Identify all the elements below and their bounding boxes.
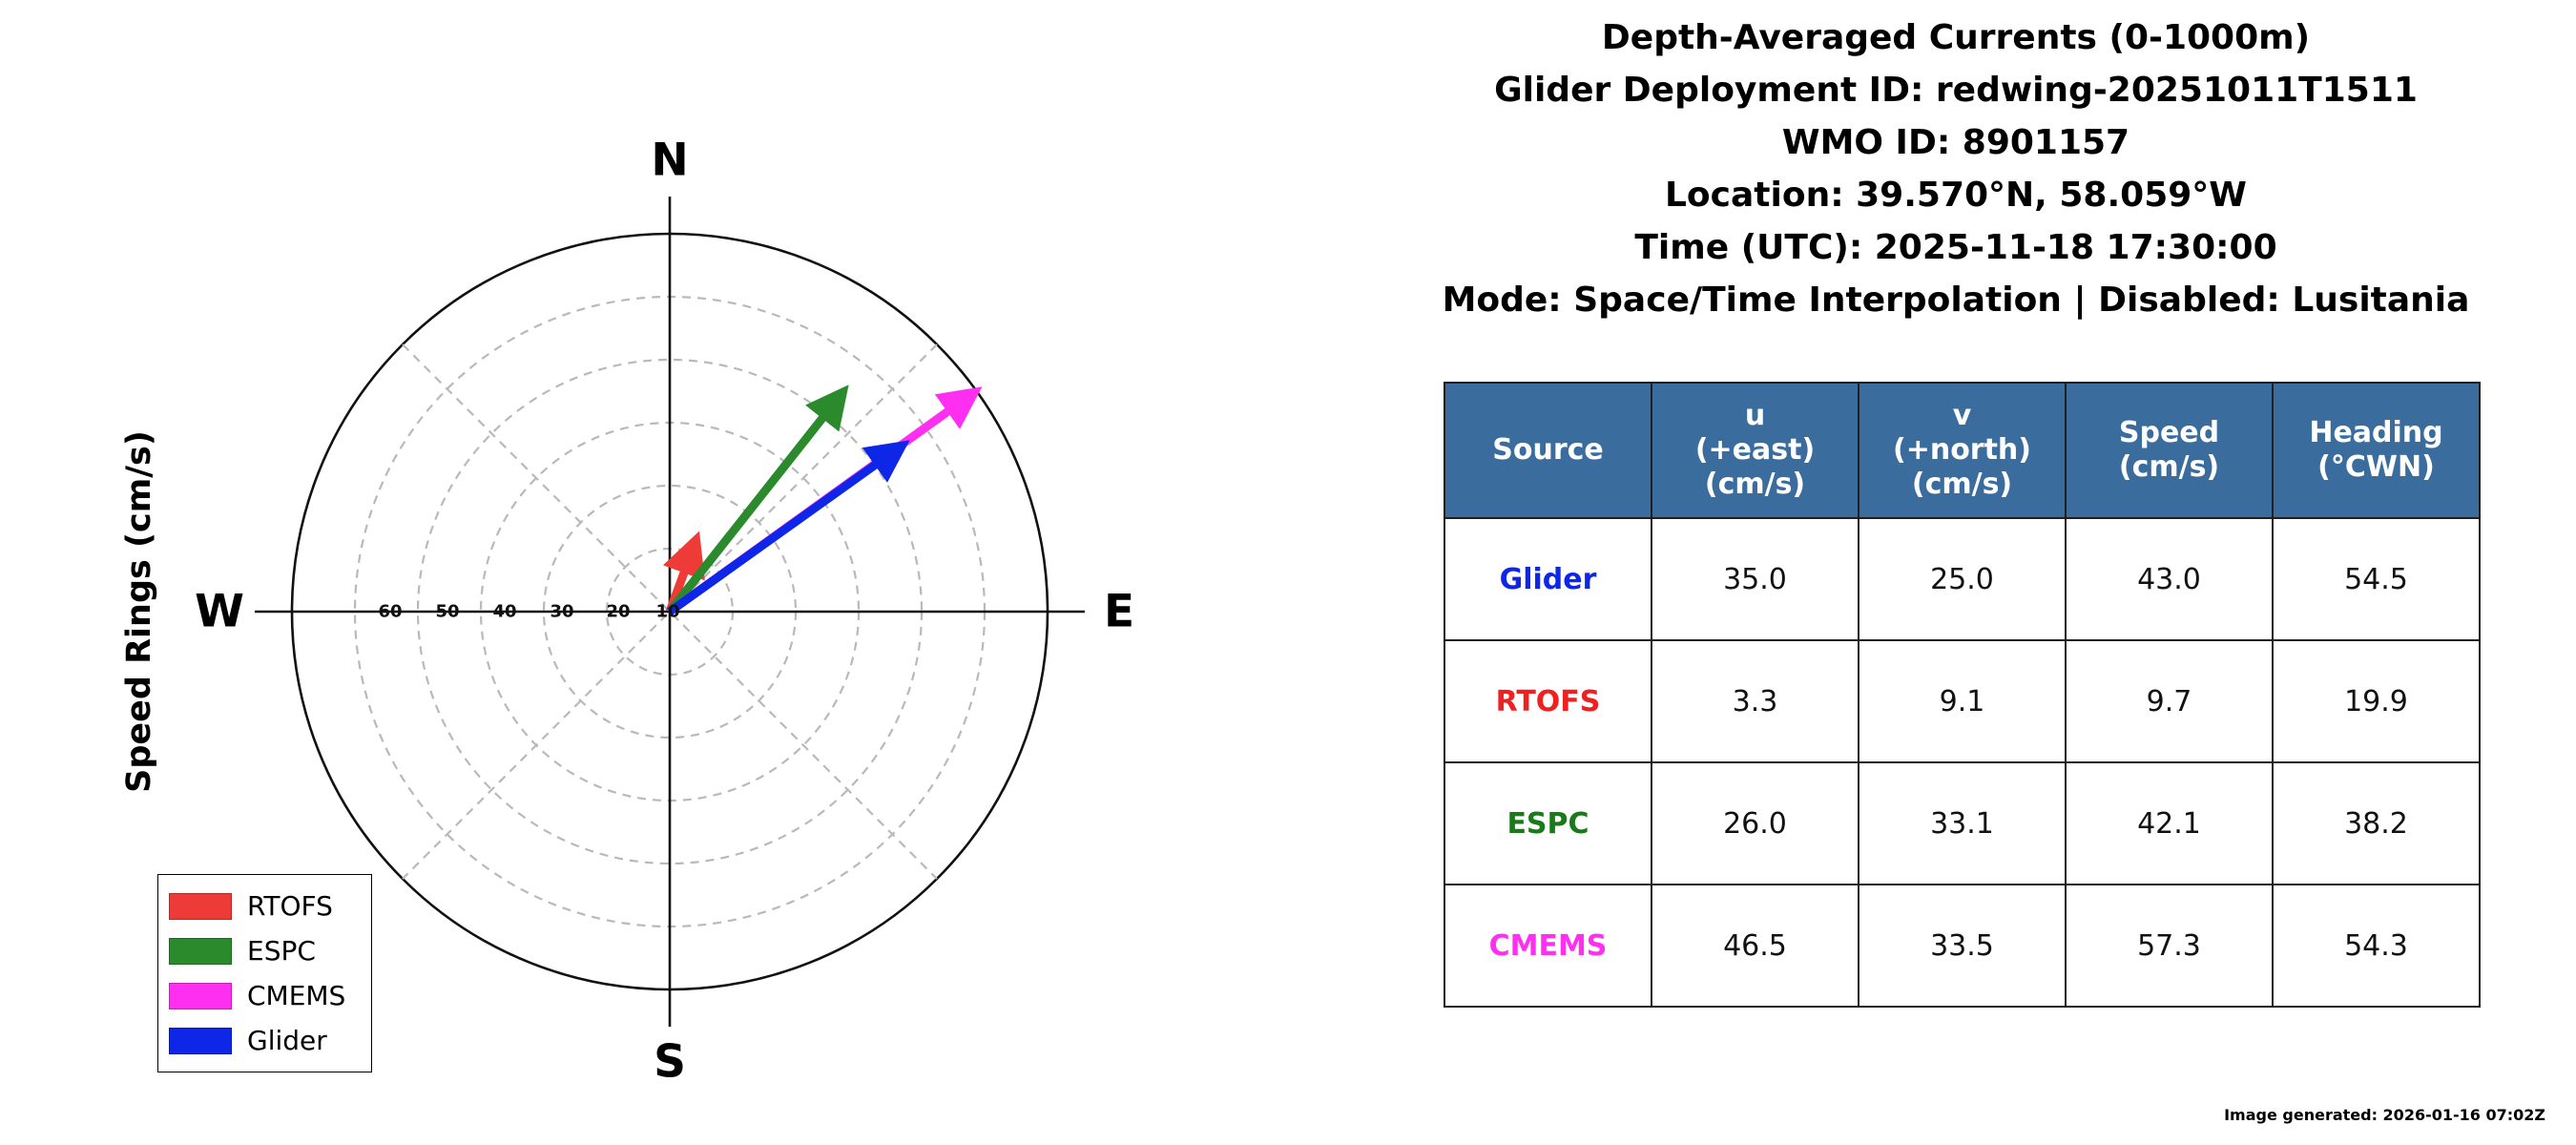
- legend-item-glider: Glider: [169, 1018, 361, 1063]
- header-source-line1: Source: [1451, 433, 1645, 468]
- ring-tick-30: 30: [550, 602, 573, 622]
- legend: RTOFS ESPC CMEMS Glider: [157, 874, 372, 1072]
- header-source: Source: [1444, 383, 1652, 518]
- row-u-espc: 26.0: [1652, 762, 1859, 885]
- header-v: v (+north) (cm/s): [1859, 383, 2066, 518]
- compass-label-north: N: [651, 135, 688, 187]
- title-line-location: Location: 39.570°N, 58.059°W: [1336, 169, 2576, 221]
- ring-tick-40: 40: [492, 602, 516, 622]
- table-header-row: Source u (+east) (cm/s) v (+north) (cm/s…: [1444, 383, 2480, 518]
- currents-table-wrap: Source u (+east) (cm/s) v (+north) (cm/s…: [1444, 382, 2481, 1008]
- row-v-glider: 25.0: [1859, 518, 2066, 640]
- row-v-espc: 33.1: [1859, 762, 2066, 885]
- legend-item-rtofs: RTOFS: [169, 884, 361, 928]
- title-line-product: Depth-Averaged Currents (0-1000m): [1336, 11, 2576, 64]
- row-u-cmems: 46.5: [1652, 885, 1859, 1007]
- compass-label-south: S: [654, 1036, 686, 1089]
- header-v-line3: (cm/s): [1865, 468, 2059, 502]
- summary-panel: Depth-Averaged Currents (0-1000m) Glider…: [1336, 0, 2576, 1145]
- title-line-deployment-id: Glider Deployment ID: redwing-20251011T1…: [1336, 64, 2576, 116]
- title-block: Depth-Averaged Currents (0-1000m) Glider…: [1336, 11, 2576, 326]
- header-heading-line2: (°CWN): [2279, 450, 2473, 485]
- ring-tick-50: 50: [435, 602, 459, 622]
- row-heading-glider: 54.5: [2273, 518, 2480, 640]
- legend-swatch-glider: [169, 1028, 232, 1054]
- row-source-espc: ESPC: [1444, 762, 1652, 885]
- legend-swatch-rtofs: [169, 893, 232, 920]
- row-u-rtofs: 3.3: [1652, 640, 1859, 762]
- page-root: N S W E Speed Rings (cm/s) 60 50 40 30 2…: [0, 0, 2576, 1145]
- legend-swatch-espc: [169, 938, 232, 965]
- row-speed-glider: 43.0: [2066, 518, 2273, 640]
- polar-plot-panel: N S W E Speed Rings (cm/s) 60 50 40 30 2…: [0, 0, 1336, 1145]
- table-row: Glider 35.0 25.0 43.0 54.5: [1444, 518, 2480, 640]
- compass-label-west: W: [195, 586, 244, 638]
- legend-label-espc: ESPC: [247, 935, 316, 967]
- row-heading-espc: 38.2: [2273, 762, 2480, 885]
- legend-label-rtofs: RTOFS: [247, 890, 333, 922]
- row-speed-rtofs: 9.7: [2066, 640, 2273, 762]
- row-v-cmems: 33.5: [1859, 885, 2066, 1007]
- legend-label-glider: Glider: [247, 1025, 327, 1056]
- header-speed-line1: Speed: [2072, 416, 2266, 450]
- header-v-line1: v: [1865, 399, 2059, 433]
- ring-tick-60: 60: [378, 602, 402, 622]
- row-u-glider: 35.0: [1652, 518, 1859, 640]
- table-row: ESPC 26.0 33.1 42.1 38.2: [1444, 762, 2480, 885]
- legend-item-cmems: CMEMS: [169, 973, 361, 1018]
- header-heading-line1: Heading: [2279, 416, 2473, 450]
- title-line-time: Time (UTC): 2025-11-18 17:30:00: [1336, 221, 2576, 274]
- row-v-rtofs: 9.1: [1859, 640, 2066, 762]
- row-heading-rtofs: 19.9: [2273, 640, 2480, 762]
- ring-tick-10: 10: [655, 602, 679, 622]
- header-u-line1: u: [1658, 399, 1852, 433]
- title-line-mode: Mode: Space/Time Interpolation | Disable…: [1336, 274, 2576, 326]
- title-line-wmo-id: WMO ID: 8901157: [1336, 116, 2576, 169]
- row-speed-cmems: 57.3: [2066, 885, 2273, 1007]
- row-source-glider: Glider: [1444, 518, 1652, 640]
- table-row: CMEMS 46.5 33.5 57.3 54.3: [1444, 885, 2480, 1007]
- polar-plot: N S W E Speed Rings (cm/s) 60 50 40 30 2…: [0, 0, 1336, 1145]
- header-speed: Speed (cm/s): [2066, 383, 2273, 518]
- compass-label-east: E: [1104, 586, 1134, 638]
- row-heading-cmems: 54.3: [2273, 885, 2480, 1007]
- header-speed-line2: (cm/s): [2072, 450, 2266, 485]
- currents-table: Source u (+east) (cm/s) v (+north) (cm/s…: [1444, 382, 2481, 1008]
- row-source-rtofs: RTOFS: [1444, 640, 1652, 762]
- header-heading: Heading (°CWN): [2273, 383, 2480, 518]
- header-u-line3: (cm/s): [1658, 468, 1852, 502]
- legend-item-espc: ESPC: [169, 928, 361, 973]
- table-body: Glider 35.0 25.0 43.0 54.5 RTOFS 3.3 9.1…: [1444, 518, 2480, 1007]
- table-header: Source u (+east) (cm/s) v (+north) (cm/s…: [1444, 383, 2480, 518]
- legend-label-cmems: CMEMS: [247, 980, 345, 1011]
- header-u: u (+east) (cm/s): [1652, 383, 1859, 518]
- header-u-line2: (+east): [1658, 433, 1852, 468]
- header-v-line2: (+north): [1865, 433, 2059, 468]
- row-source-cmems: CMEMS: [1444, 885, 1652, 1007]
- radial-axis-label: Speed Rings (cm/s): [120, 430, 158, 793]
- image-generated-note: Image generated: 2026-01-16 07:02Z: [2224, 1106, 2545, 1124]
- table-row: RTOFS 3.3 9.1 9.7 19.9: [1444, 640, 2480, 762]
- ring-tick-20: 20: [606, 602, 630, 622]
- legend-swatch-cmems: [169, 983, 232, 1010]
- row-speed-espc: 42.1: [2066, 762, 2273, 885]
